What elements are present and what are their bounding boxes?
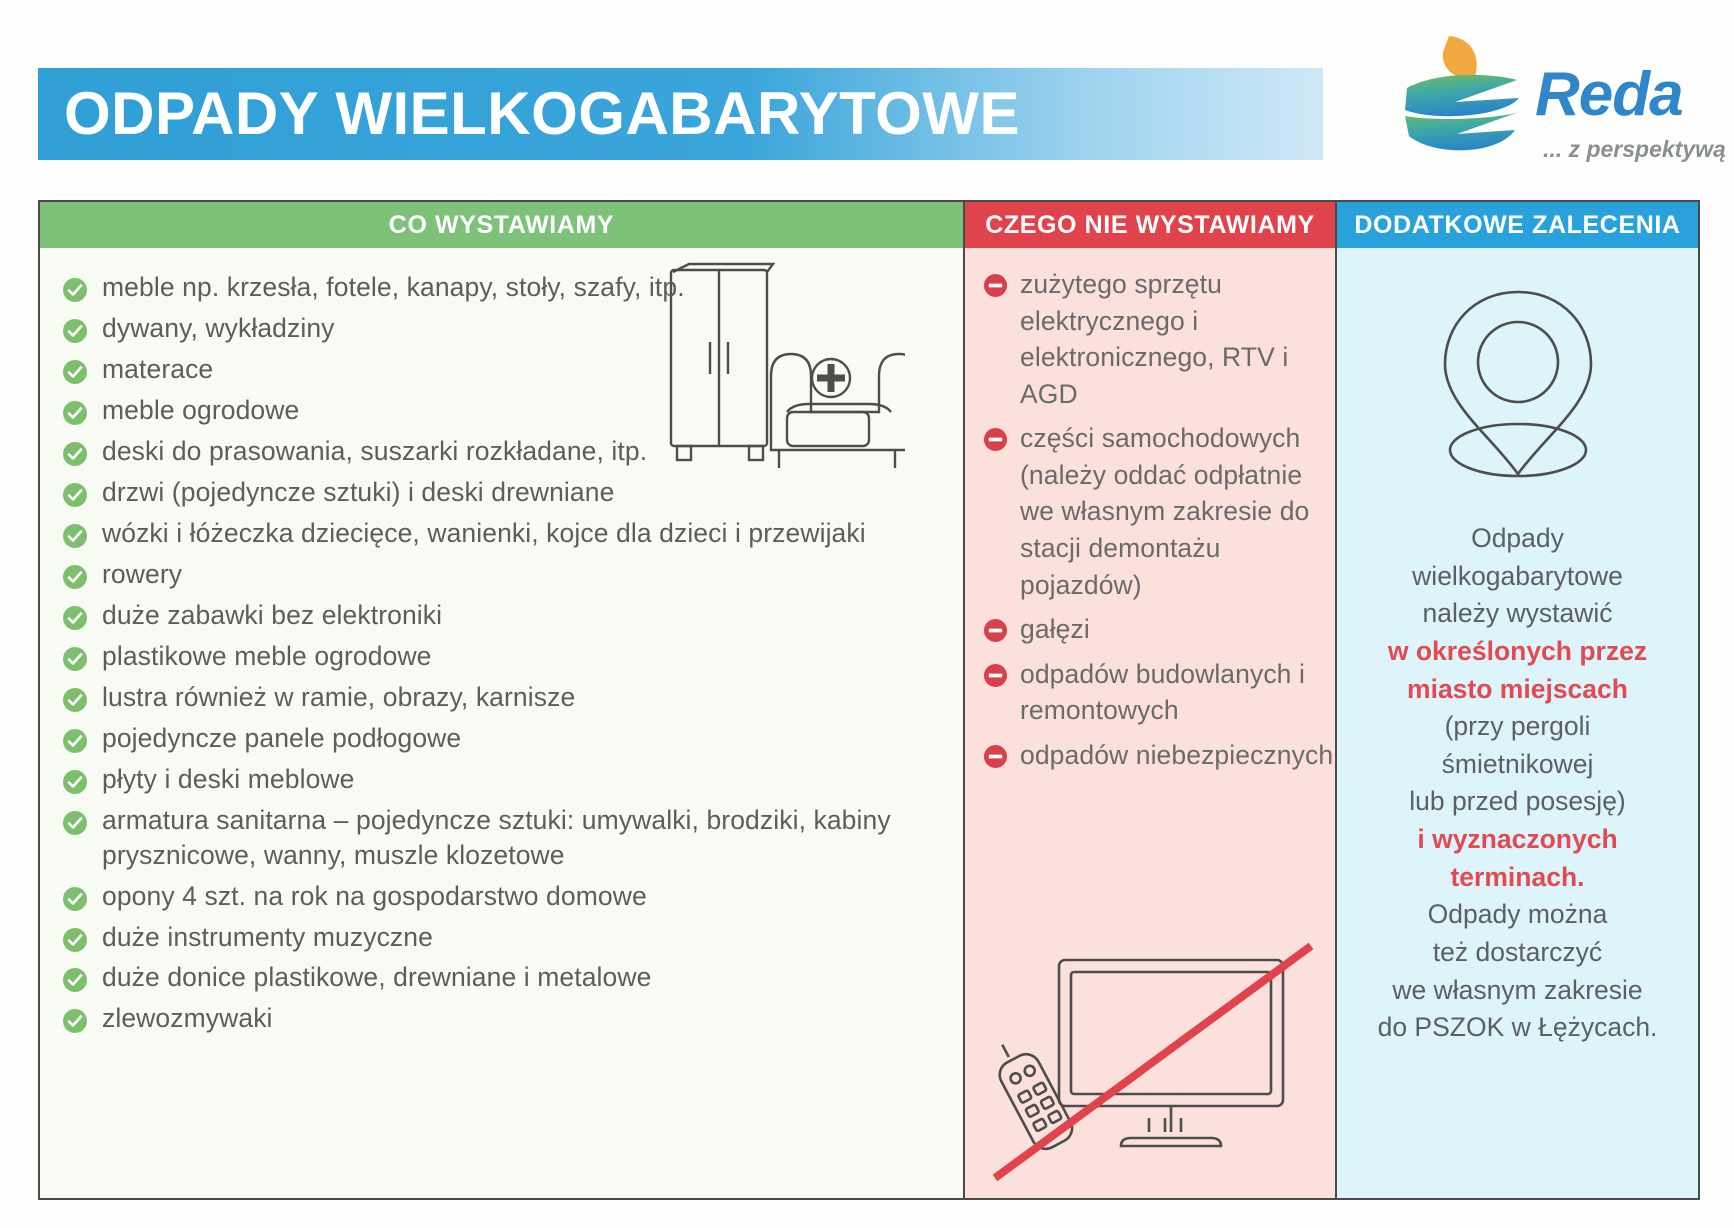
list-item: meble ogrodowe: [40, 393, 963, 428]
paragraph-line-highlight: i wyznaczonych: [1353, 821, 1682, 859]
list-item-label: duże donice plastikowe, drewniane i meta…: [102, 960, 651, 995]
list-item: gałęzi: [965, 611, 1335, 648]
minus-circle-icon: [983, 744, 1008, 769]
list-item: rowery: [40, 557, 963, 592]
list-item: pojedyncze panele podłogowe: [40, 721, 963, 756]
sun-leaf-shape: [1443, 36, 1477, 78]
list-item-label: wózki i łóżeczka dziecięce, wanienki, ko…: [102, 516, 866, 551]
list-item: materace: [40, 352, 963, 387]
paragraph-line: należy wystawić: [1353, 595, 1682, 633]
column-header-recommendations: DODATKOWE ZALECENIA: [1337, 202, 1698, 248]
column-body-accepted: meble np. krzesła, fotele, kanapy, stoły…: [40, 248, 963, 1200]
list-item: drzwi (pojedyncze sztuki) i deski drewni…: [40, 475, 963, 510]
list-item: armatura sanitarna – pojedyncze sztuki: …: [40, 803, 963, 873]
check-circle-icon: [62, 728, 88, 754]
minus-circle-icon: [983, 618, 1008, 643]
list-item-label: zlewozmywaki: [102, 1001, 273, 1036]
list-item-label: lustra również w ramie, obrazy, karnisze: [102, 680, 575, 715]
list-item-label: duże zabawki bez elektroniki: [102, 598, 442, 633]
title-band: ODPADY WIELKOGABARYTOWE: [38, 68, 1323, 160]
column-header-accepted: CO WYSTAWIAMY: [40, 202, 963, 248]
list-item: duże zabawki bez elektroniki: [40, 598, 963, 633]
list-item: duże donice plastikowe, drewniane i meta…: [40, 960, 963, 995]
list-item: części samochodowych (należy oddać odpła…: [965, 420, 1335, 603]
paragraph-line: lub przed posesję): [1353, 783, 1682, 821]
list-item: odpadów niebezpiecznych: [965, 737, 1335, 774]
column-header-rejected: CZEGO NIE WYSTAWIAMY: [965, 202, 1335, 248]
list-item-label: drzwi (pojedyncze sztuki) i deski drewni…: [102, 475, 614, 510]
check-circle-icon: [62, 277, 88, 303]
list-item: opony 4 szt. na rok na gospodarstwo domo…: [40, 879, 963, 914]
list-item: wózki i łóżeczka dziecięce, wanienki, ko…: [40, 516, 963, 551]
logo-tagline: ... z perspektywą: [1543, 136, 1726, 163]
list-item: plastikowe meble ogrodowe: [40, 639, 963, 674]
map-pin-wrap: [1337, 248, 1698, 494]
check-circle-icon: [62, 769, 88, 795]
paragraph-line: wielkogabarytowe: [1353, 558, 1682, 596]
column-rejected: CZEGO NIE WYSTAWIAMY zużytego sprzętu el…: [963, 200, 1335, 1200]
list-item: zużytego sprzętu elektrycznego i elektro…: [965, 266, 1335, 412]
crossed-out-television-illustration-icon: [981, 942, 1321, 1192]
list-item-label: meble ogrodowe: [102, 393, 299, 428]
list-item-label: pojedyncze panele podłogowe: [102, 721, 461, 756]
reda-logo: Reda ... z perspektywą: [1385, 24, 1715, 174]
check-circle-icon: [62, 927, 88, 953]
check-circle-icon: [62, 687, 88, 713]
check-circle-icon: [62, 441, 88, 467]
paragraph-line: też dostarczyć: [1353, 934, 1682, 972]
minus-circle-icon: [983, 427, 1008, 452]
list-item-label: deski do prasowania, suszarki rozkładane…: [102, 434, 647, 469]
list-item: duże instrumenty muzyczne: [40, 920, 963, 955]
rejected-list: zużytego sprzętu elektrycznego i elektro…: [965, 248, 1335, 773]
poster-header: ODPADY WIELKOGABARYTOWE Reda ... z persp…: [0, 0, 1734, 190]
list-item-label: zużytego sprzętu elektrycznego i elektro…: [1020, 266, 1335, 412]
list-item-label: odpadów budowlanych i remontowych: [1020, 656, 1335, 729]
list-item-label: duże instrumenty muzyczne: [102, 920, 433, 955]
list-item-label: części samochodowych (należy oddać odpła…: [1020, 420, 1335, 603]
recommendations-paragraph: Odpady wielkogabarytowe należy wystawić …: [1337, 494, 1698, 1047]
logo-wordmark: Reda: [1535, 64, 1683, 126]
column-body-recommendations: Odpady wielkogabarytowe należy wystawić …: [1337, 248, 1698, 1200]
check-circle-icon: [62, 482, 88, 508]
check-circle-icon: [62, 1008, 88, 1034]
list-item: meble np. krzesła, fotele, kanapy, stoły…: [40, 270, 963, 305]
check-circle-icon: [62, 646, 88, 672]
paragraph-line-highlight: terminach.: [1353, 859, 1682, 897]
list-item-label: dywany, wykładziny: [102, 311, 335, 346]
list-item-label: plastikowe meble ogrodowe: [102, 639, 432, 674]
poster-root: ODPADY WIELKOGABARYTOWE Reda ... z persp…: [0, 0, 1734, 1228]
check-circle-icon: [62, 886, 88, 912]
list-item-label: rowery: [102, 557, 182, 592]
minus-circle-icon: [983, 663, 1008, 688]
minus-circle-icon: [983, 273, 1008, 298]
list-item-label: materace: [102, 352, 213, 387]
check-circle-icon: [62, 318, 88, 344]
check-circle-icon: [62, 605, 88, 631]
paragraph-line: we własnym zakresie: [1353, 972, 1682, 1010]
list-item: lustra również w ramie, obrazy, karnisze: [40, 680, 963, 715]
check-circle-icon: [62, 523, 88, 549]
list-item: zlewozmywaki: [40, 1001, 963, 1036]
paragraph-line: do PSZOK w Łężycach.: [1353, 1009, 1682, 1047]
paragraph-line: śmietnikowej: [1353, 746, 1682, 784]
paragraph-line-highlight: miasto miejscach: [1353, 671, 1682, 709]
list-item: deski do prasowania, suszarki rozkładane…: [40, 434, 963, 469]
check-circle-icon: [62, 400, 88, 426]
list-item-label: meble np. krzesła, fotele, kanapy, stoły…: [102, 270, 685, 305]
check-circle-icon: [62, 810, 88, 836]
map-pin-icon: [1413, 278, 1623, 494]
check-circle-icon: [62, 967, 88, 993]
list-item-label: gałęzi: [1020, 611, 1090, 648]
list-item: odpadów budowlanych i remontowych: [965, 656, 1335, 729]
columns-container: CO WYSTAWIAMY: [38, 200, 1700, 1200]
list-item: dywany, wykładziny: [40, 311, 963, 346]
list-item-label: opony 4 szt. na rok na gospodarstwo domo…: [102, 879, 647, 914]
column-recommendations: DODATKOWE ZALECENIA Odpady wielkogabaryt…: [1335, 200, 1700, 1200]
reda-logo-mark-icon: [1385, 30, 1537, 170]
paragraph-line: Odpady można: [1353, 896, 1682, 934]
paragraph-line-highlight: w określonych przez: [1353, 633, 1682, 671]
check-circle-icon: [62, 564, 88, 590]
list-item: płyty i deski meblowe: [40, 762, 963, 797]
accepted-list: meble np. krzesła, fotele, kanapy, stoły…: [40, 248, 963, 1036]
list-item-label: płyty i deski meblowe: [102, 762, 354, 797]
page-title: ODPADY WIELKOGABARYTOWE: [38, 84, 1020, 144]
column-accepted: CO WYSTAWIAMY: [38, 200, 963, 1200]
paragraph-line: Odpady: [1353, 520, 1682, 558]
list-item-label: armatura sanitarna – pojedyncze sztuki: …: [102, 803, 963, 873]
column-body-rejected: zużytego sprzętu elektrycznego i elektro…: [965, 248, 1335, 1200]
list-item-label: odpadów niebezpiecznych: [1020, 737, 1333, 774]
paragraph-line: (przy pergoli: [1353, 708, 1682, 746]
check-circle-icon: [62, 359, 88, 385]
